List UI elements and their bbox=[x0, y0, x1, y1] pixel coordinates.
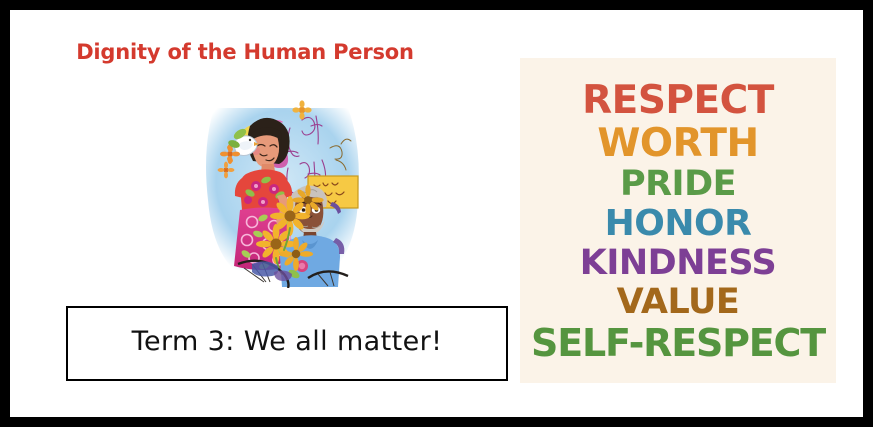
slide-frame: Dignity of the Human Person bbox=[0, 0, 873, 427]
term-caption-text: Term 3: We all matter! bbox=[132, 326, 443, 357]
value-word-self-respect: SELF-RESPECT bbox=[531, 324, 825, 362]
slide-canvas: Dignity of the Human Person bbox=[10, 10, 863, 417]
left-column: Dignity of the Human Person bbox=[10, 10, 510, 417]
illustration-svg bbox=[190, 88, 376, 288]
term-caption-box: Term 3: We all matter! bbox=[66, 306, 508, 381]
value-word-respect: RESPECT bbox=[582, 81, 774, 120]
value-word-worth: WORTH bbox=[597, 124, 758, 163]
value-word-kindness: KINDNESS bbox=[580, 246, 777, 281]
life-and-dignity-illustration bbox=[190, 88, 376, 288]
value-word-value: VALUE bbox=[617, 285, 740, 320]
value-word-pride: PRIDE bbox=[620, 167, 736, 202]
page-title: Dignity of the Human Person bbox=[10, 40, 480, 64]
value-word-honor: HONOR bbox=[605, 206, 752, 242]
values-word-poster: RESPECT WORTH PRIDE HONOR KINDNESS VALUE… bbox=[520, 58, 836, 383]
